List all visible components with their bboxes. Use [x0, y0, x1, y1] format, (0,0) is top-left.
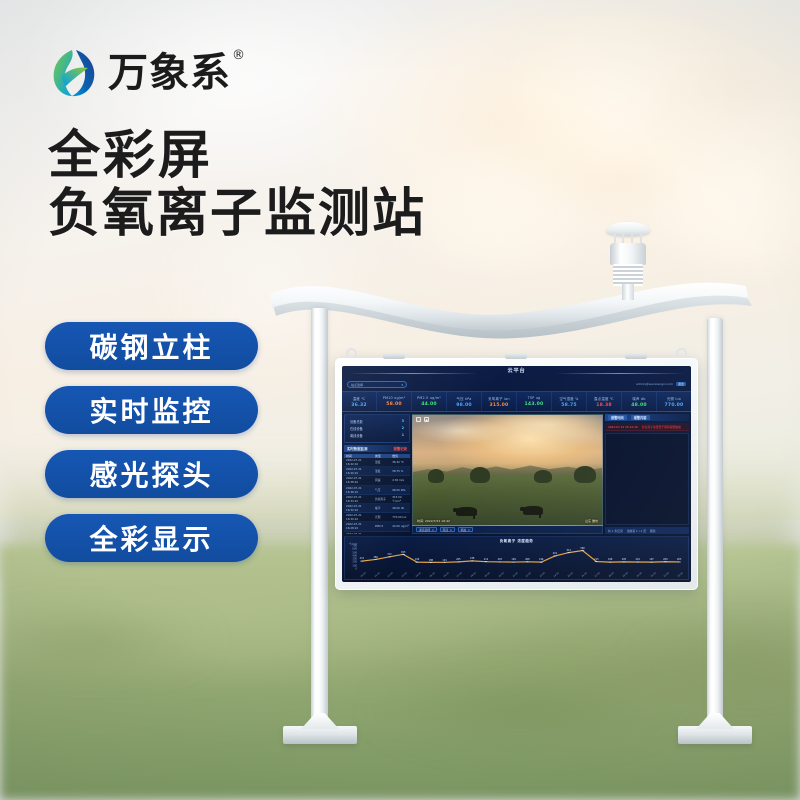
cell-type: 风速 — [373, 478, 390, 482]
video-site-name: 山东 潍坊 — [585, 519, 598, 523]
feature-pill-1[interactable]: 实时监控 — [45, 386, 258, 434]
cell-value: 2.30 m/s — [390, 478, 410, 482]
tree-shape — [574, 466, 596, 483]
headline-line-2: 负氧离子监测站 — [48, 184, 426, 245]
chart-x-tick: 20:00 — [636, 572, 643, 578]
alarm-footer: 共 1 条记录当前第 1 / 1 页刷新 — [605, 527, 689, 534]
chart-point-label: 208 — [525, 558, 529, 561]
metric-value: 143.00 — [525, 402, 544, 407]
sensor-radiation-shield — [613, 264, 643, 286]
stat-label: 在线设备 — [350, 426, 363, 431]
dashboard-middle: 设备总数3在线设备2离线设备1 实时数据监测 报警记录 时间类型数值 2022-… — [342, 414, 691, 534]
alarm-column-header: 报警内容 — [631, 415, 650, 420]
chart-x-tick: 16:00 — [581, 572, 588, 578]
alarm-column-header: 报警时间 — [608, 415, 627, 420]
chart-x-tick: 01:00 — [374, 572, 381, 578]
feature-pill-2[interactable]: 感光探头 — [45, 450, 258, 498]
metric-5: TSP ug143.00 — [517, 392, 552, 411]
metric-9: 光照 lux770.00 — [657, 392, 691, 411]
metric-value: 98.00 — [456, 403, 472, 408]
chart-x-tick: 17:00 — [594, 572, 601, 578]
chart-x-tick: 11:00 — [512, 572, 519, 578]
cell-time: 2022-07-21 16:28:10 — [344, 522, 373, 530]
alarm-table-header: 报警时间报警内容 — [605, 414, 689, 421]
ultrasonic-weather-sensor-icon — [606, 222, 650, 294]
chart-y-tick: 600 — [352, 548, 357, 551]
chart-point-label: 212 — [484, 558, 488, 561]
dashboard-screen: 云平台 站点选择 ▾ admin@wanxiangxi.com 退出 温度 ℃3… — [342, 366, 691, 582]
table-row[interactable]: 2022-07-21 16:30:10光照770.00 lux — [344, 513, 410, 522]
mount-bracket — [625, 353, 647, 359]
wave-canopy — [268, 276, 756, 348]
support-post-left — [311, 308, 328, 728]
chart-point-label: 196 — [539, 558, 543, 561]
mount-hook-right — [676, 348, 687, 359]
data-panel-title: 实时数据监测 — [347, 446, 367, 451]
control-label: 通道选择 — [419, 528, 430, 532]
cell-type: 湿度 — [373, 469, 390, 473]
chart-x-tick: 05:00 — [429, 572, 436, 578]
sensor-body — [610, 243, 646, 265]
cell-value: 770.00 lux — [390, 515, 410, 519]
metric-label: PM10 ug/m³ — [383, 396, 405, 400]
chart-point-label: 231 — [360, 557, 364, 560]
video-controls: 通道选择▾码流▾抓拍▾ — [412, 526, 603, 534]
chart-x-tick: 02:00 — [387, 572, 394, 578]
station-select[interactable]: 站点选择 ▾ — [347, 381, 407, 388]
chart-point-label: 197 — [649, 558, 653, 561]
metric-value: 44.00 — [421, 402, 437, 407]
trademark-symbol: ® — [232, 49, 246, 62]
metric-8: 噪声 db48.00 — [622, 392, 657, 411]
chart-x-tick: 19:00 — [622, 572, 629, 578]
chart-point-label: 205 — [456, 558, 460, 561]
table-row[interactable]: 2022-07-21 16:26:10PM1058.00 ug/m³ — [344, 532, 410, 535]
cell-value: 48.00 db — [390, 506, 410, 510]
chart-plot-area: 2312863724551961881912052382122031992081… — [359, 546, 682, 569]
metric-value: 18.38 — [596, 403, 612, 408]
sky-clouds — [413, 415, 602, 468]
support-post-right — [707, 318, 723, 728]
table-row[interactable]: 2022-07-21 16:38:10风速2.30 m/s — [344, 476, 410, 485]
cattle-silhouette — [456, 507, 477, 516]
snapshot-icon[interactable]: ◉ — [424, 417, 429, 422]
chart-line-svg — [359, 546, 682, 569]
led-display-cabinet: 云平台 站点选择 ▾ admin@wanxiangxi.com 退出 温度 ℃3… — [335, 358, 698, 590]
metric-value: 58.75 — [561, 403, 577, 408]
stat-row: 设备总数3 — [350, 419, 404, 424]
center-panel: ⛶ ◉ 时间: 2022/7/21 16:42 山东 潍坊 通道选择▾码流▾抓拍… — [412, 414, 603, 534]
chart-x-tick: 21:00 — [650, 572, 657, 578]
chart-y-tick: 0 — [355, 568, 357, 571]
cell-type: PM2.5 — [373, 524, 390, 528]
alarm-rows: 2022-07-21 15:12:16负氧离子浓度低于阈值报警触发 — [605, 423, 689, 431]
chart-x-tick: 14:00 — [553, 572, 560, 578]
chart-point-label: 455 — [401, 551, 405, 554]
chart-y-axis: 0100200300400500600700 — [345, 546, 358, 569]
chart-x-tick: 22:00 — [663, 572, 670, 578]
table-row[interactable]: 2022-07-21 16:36:10气压98.00 kPa — [344, 486, 410, 495]
chart-point-label: 401 — [553, 552, 557, 555]
chart-y-tick: 400 — [352, 554, 357, 557]
chart-point-label: 203 — [677, 558, 681, 561]
fullscreen-icon[interactable]: ⛶ — [416, 417, 421, 422]
video-control-1[interactable]: 码流▾ — [440, 527, 455, 532]
dashboard-title: 云平台 — [342, 367, 691, 374]
table-row[interactable]: 2022-07-21 16:28:10PM2.544.00 ug/m³ — [344, 522, 410, 531]
alarm-empty-area — [605, 433, 689, 525]
chart-x-tick: 06:00 — [443, 572, 450, 578]
logout-button[interactable]: 退出 — [676, 382, 686, 386]
metric-7: 露点温度 ℃18.38 — [587, 392, 622, 411]
alarm-footer-item-1: 当前第 1 / 1 页 — [627, 529, 646, 533]
alarm-records-tab[interactable]: 报警记录 — [393, 446, 407, 451]
feature-pill-0[interactable]: 碳钢立柱 — [45, 322, 258, 370]
table-body: 2022-07-21 16:42:10温度36.32 ℃2022-07-21 1… — [344, 458, 410, 534]
metric-3: 气压 kPa98.00 — [447, 392, 482, 411]
cell-value: 58.75 % — [390, 469, 410, 473]
chart-x-tick: 03:00 — [401, 572, 408, 578]
chart-x-tick: 09:00 — [484, 572, 491, 578]
cell-value: 36.32 ℃ — [390, 460, 410, 464]
base-plate-right — [678, 726, 752, 744]
stat-label: 离线设备 — [350, 433, 363, 438]
feature-pill-list: 碳钢立柱实时监控感光探头全彩显示 — [45, 322, 258, 562]
mount-bracket — [383, 353, 405, 359]
cell-time: 2022-07-21 16:38:10 — [344, 476, 373, 484]
swirl-globe-logo-icon — [50, 48, 98, 98]
metric-label: 温度 ℃ — [353, 396, 365, 401]
cell-value: 315.00 个/cm³ — [390, 495, 410, 503]
video-control-2[interactable]: 抓拍▾ — [458, 527, 473, 532]
chart-point-label: 238 — [470, 557, 474, 560]
table-row[interactable]: 2022-07-21 16:42:10温度36.32 ℃ — [344, 458, 410, 467]
chevron-down-icon: ▾ — [401, 383, 403, 387]
trend-chart: 负氧离子 浓度趋势 个/cm³ 0100200300400500600700 2… — [344, 536, 689, 580]
brand-name-wrap: 万象系 ® — [108, 53, 231, 93]
cell-type: 温度 — [373, 460, 390, 464]
chart-point-label: 512 — [567, 549, 571, 552]
metric-label: TSP ug — [528, 396, 541, 400]
right-panel: 报警时间报警内容 2022-07-21 15:12:16负氧离子浓度低于阈值报警… — [605, 414, 689, 534]
control-label: 码流 — [443, 528, 449, 532]
chart-x-tick: 23:00 — [677, 572, 684, 578]
chart-y-tick: 700 — [352, 545, 357, 548]
control-label: 抓拍 — [461, 528, 467, 532]
stat-row: 在线设备2 — [350, 426, 404, 431]
chart-point-label: 372 — [387, 553, 391, 556]
cell-time: 2022-07-21 16:26:10 — [344, 532, 373, 534]
cell-type: 负氧离子 — [373, 497, 390, 501]
chart-point-label: 215 — [594, 558, 598, 561]
chart-x-tick: 04:00 — [415, 572, 422, 578]
table-row[interactable]: 2022-07-21 16:40:10湿度58.75 % — [344, 467, 410, 476]
chart-point-label: 196 — [415, 558, 419, 561]
video-timestamp: 时间: 2022/7/21 16:42 — [417, 519, 450, 523]
chart-y-tick: 200 — [352, 561, 357, 564]
chart-x-tick: 08:00 — [470, 572, 477, 578]
metric-label: 噪声 db — [632, 396, 645, 401]
metric-value: 315.00 — [490, 403, 509, 408]
chart-point-label: 286 — [373, 556, 377, 559]
chart-point-label: 198 — [608, 558, 612, 561]
chevron-down-icon: ▾ — [432, 528, 433, 532]
metric-label: 空气湿度 % — [559, 396, 578, 401]
metric-1: PM10 ug/m³58.00 — [377, 392, 412, 411]
chart-point-label: 201 — [636, 558, 640, 561]
video-control-0[interactable]: 通道选择▾ — [416, 527, 437, 532]
chart-x-tick: 00:00 — [360, 572, 367, 578]
cell-time: 2022-07-21 16:42:10 — [344, 458, 373, 466]
alarm-footer-item-0: 共 1 条记录 — [608, 529, 623, 533]
metric-label: PM2.5 ug/m³ — [417, 396, 441, 400]
cell-time: 2022-07-21 16:34:10 — [344, 495, 373, 503]
metric-value: 48.00 — [631, 403, 647, 408]
alarm-footer-item-2[interactable]: 刷新 — [650, 529, 656, 533]
headline-line-1: 全彩屏 — [48, 128, 426, 184]
tree-shape — [534, 470, 552, 483]
chart-point-label: 191 — [442, 559, 446, 562]
chevron-down-icon: ▾ — [450, 528, 451, 532]
metric-label: 光照 lux — [667, 396, 681, 401]
camera-icon: ▾ — [468, 528, 469, 532]
video-overlay-icons: ⛶ ◉ — [416, 417, 429, 422]
grass-field — [413, 476, 602, 526]
realtime-data-table: 时间类型数值 2022-07-21 16:42:10温度36.32 ℃2022-… — [344, 454, 410, 534]
user-info: admin@wanxiangxi.com 退出 — [636, 382, 686, 386]
cell-time: 2022-07-21 16:30:10 — [344, 513, 373, 521]
brand-logo: 万象系 ® — [50, 48, 231, 98]
brand-name: 万象系 — [108, 50, 231, 96]
cattle-silhouette — [523, 506, 543, 515]
chart-x-tick: 18:00 — [608, 572, 615, 578]
metric-label: 露点温度 ℃ — [594, 396, 614, 401]
stat-row: 离线设备1 — [350, 433, 404, 438]
cell-type: 光照 — [373, 515, 390, 519]
chart-title: 负氧离子 浓度趋势 — [345, 537, 688, 544]
metric-0: 温度 ℃36.32 — [342, 392, 377, 411]
metric-2: PM2.5 ug/m³44.00 — [412, 392, 447, 411]
headline-block: 全彩屏 负氧离子监测站 — [48, 128, 426, 246]
chart-point-label: 205 — [622, 558, 626, 561]
tree-shape — [470, 467, 490, 483]
feature-pill-3[interactable]: 全彩显示 — [45, 514, 258, 562]
metric-label: 气压 kPa — [457, 396, 472, 401]
table-row[interactable]: 2022-07-21 16:32:10噪声48.00 db — [344, 504, 410, 513]
alarm-time: 2022-07-21 15:12:16 — [608, 425, 638, 429]
cell-time: 2022-07-21 16:32:10 — [344, 504, 373, 512]
base-plate-left — [283, 726, 357, 744]
chart-point-label: 188 — [429, 559, 433, 562]
metric-value: 770.00 — [665, 403, 684, 408]
mount-hook-left — [346, 348, 357, 359]
chart-x-tick: 10:00 — [498, 572, 505, 578]
chart-x-axis: 00:0001:0002:0003:0004:0005:0006:0007:00… — [359, 569, 682, 579]
cell-type: 噪声 — [373, 506, 390, 510]
device-stats: 设备总数3在线设备2离线设备1 — [344, 414, 410, 443]
metric-bar: 温度 ℃36.32PM10 ug/m³58.00PM2.5 ug/m³44.00… — [342, 391, 691, 412]
chart-y-tick: 100 — [352, 564, 357, 567]
tree-shape — [428, 469, 444, 483]
stat-value: 3 — [402, 419, 404, 424]
stat-value: 2 — [402, 426, 404, 431]
chart-point-label: 199 — [511, 558, 515, 561]
alarm-message: 负氧离子浓度低于阈值报警触发 — [642, 425, 681, 429]
mount-bracket — [505, 353, 527, 359]
stat-value: 1 — [402, 433, 404, 438]
data-panel-header: 实时数据监测 报警记录 — [344, 445, 410, 452]
chart-y-tick: 500 — [352, 551, 357, 554]
chart-y-tick: 300 — [352, 558, 357, 561]
table-row[interactable]: 2022-07-21 16:34:10负氧离子315.00 个/cm³ — [344, 495, 410, 504]
chart-x-tick: 07:00 — [456, 572, 463, 578]
metric-value: 36.32 — [351, 403, 367, 408]
metric-label: 负氧离子 ion — [488, 396, 509, 401]
live-camera-feed[interactable]: ⛶ ◉ 时间: 2022/7/21 16:42 山东 潍坊 — [412, 414, 603, 526]
metric-4: 负氧离子 ion315.00 — [482, 392, 517, 411]
chart-point-label: 209 — [663, 558, 667, 561]
chart-x-tick: 15:00 — [567, 572, 574, 578]
user-account: admin@wanxiangxi.com — [636, 382, 673, 386]
metric-6: 空气湿度 %58.75 — [552, 392, 587, 411]
chart-point-label: 580 — [580, 547, 584, 550]
cell-value: 44.00 ug/m³ — [390, 524, 410, 528]
chart-x-tick: 12:00 — [525, 572, 532, 578]
left-panel: 设备总数3在线设备2离线设备1 实时数据监测 报警记录 时间类型数值 2022-… — [344, 414, 410, 534]
metric-value: 58.00 — [386, 402, 402, 407]
chart-x-tick: 13:00 — [539, 572, 546, 578]
alarm-row[interactable]: 2022-07-21 15:12:16负氧离子浓度低于阈值报警触发 — [605, 423, 689, 431]
cell-type: 气压 — [373, 488, 390, 492]
cell-time: 2022-07-21 16:36:10 — [344, 486, 373, 494]
cell-value: 98.00 kPa — [390, 488, 410, 492]
screen-header: 云平台 — [342, 366, 691, 380]
stat-label: 设备总数 — [350, 419, 363, 424]
sensor-stem — [622, 284, 634, 300]
cell-time: 2022-07-21 16:40:10 — [344, 467, 373, 475]
chart-point-label: 203 — [498, 558, 502, 561]
station-select-value: 站点选择 — [351, 383, 363, 387]
